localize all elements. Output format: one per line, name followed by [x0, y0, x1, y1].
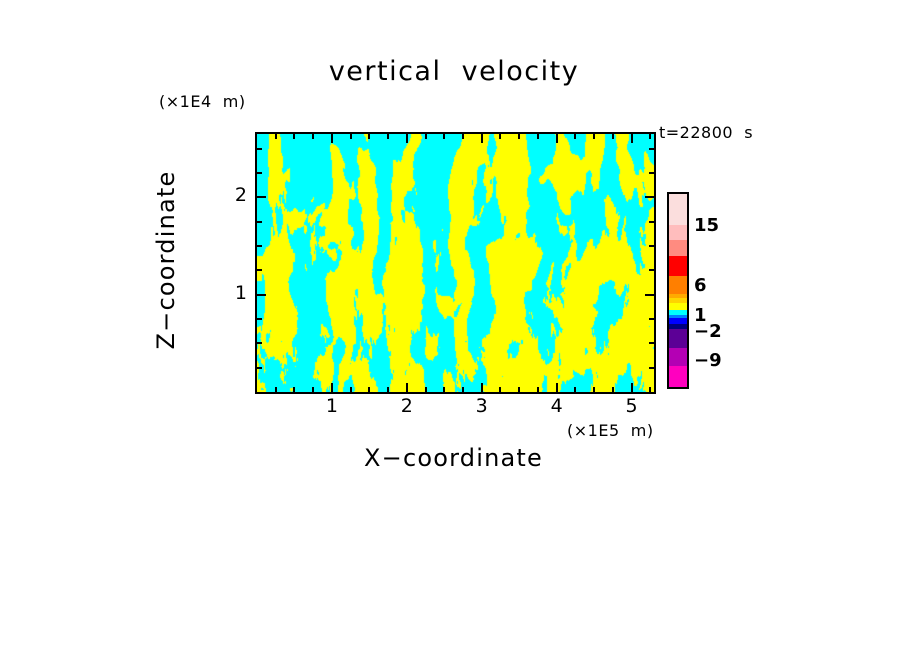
x-axis-minor-tick	[499, 134, 501, 139]
y-axis-tick	[645, 196, 654, 198]
y-axis-minor-tick	[649, 269, 654, 271]
x-axis-minor-tick	[518, 387, 520, 392]
x-axis-minor-tick	[537, 387, 539, 392]
x-axis-tick	[631, 134, 633, 143]
x-axis-tick-label: 4	[542, 395, 572, 417]
velocity-field-image	[257, 134, 654, 392]
x-axis-tick-label: 1	[317, 395, 347, 417]
y-axis-tick-label: 1	[221, 282, 247, 304]
y-axis-minor-tick	[257, 148, 262, 150]
y-axis-minor-tick	[649, 318, 654, 320]
x-axis-minor-tick	[312, 387, 314, 392]
y-axis-tick	[257, 196, 266, 198]
y-axis-minor-tick	[257, 172, 262, 174]
y-axis-minor-tick	[649, 342, 654, 344]
colorbar-band	[669, 348, 687, 366]
x-axis-tick	[631, 383, 633, 392]
heatmap-plot-area	[255, 132, 656, 394]
x-axis-unit-label: (×1E5 m)	[567, 421, 654, 440]
x-axis-minor-tick	[350, 387, 352, 392]
x-axis-tick	[406, 134, 408, 143]
x-axis-minor-tick	[425, 387, 427, 392]
x-axis-minor-tick	[499, 387, 501, 392]
colorbar-band	[669, 256, 687, 277]
colorbar-tick-label: 6	[694, 275, 707, 296]
x-axis-minor-tick	[612, 134, 614, 139]
x-axis-minor-tick	[612, 387, 614, 392]
x-axis-minor-tick	[425, 134, 427, 139]
x-axis-tick	[331, 134, 333, 143]
x-axis-minor-tick	[368, 387, 370, 392]
x-axis-minor-tick	[574, 387, 576, 392]
y-axis-minor-tick	[257, 367, 262, 369]
y-axis-minor-tick	[649, 221, 654, 223]
colorbar	[667, 192, 689, 389]
x-axis-minor-tick	[275, 134, 277, 139]
x-axis-minor-tick	[443, 134, 445, 139]
x-axis-minor-tick	[443, 387, 445, 392]
y-axis-minor-tick	[257, 221, 262, 223]
x-axis-minor-tick	[312, 134, 314, 139]
x-axis-minor-tick	[293, 134, 295, 139]
y-axis-minor-tick	[257, 269, 262, 271]
x-axis-minor-tick	[293, 387, 295, 392]
y-axis-tick	[645, 294, 654, 296]
x-axis-minor-tick	[350, 134, 352, 139]
x-axis-minor-tick	[574, 134, 576, 139]
x-axis-tick	[481, 134, 483, 143]
x-axis-tick	[406, 383, 408, 392]
x-axis-tick-label: 2	[392, 395, 422, 417]
x-axis-tick	[556, 383, 558, 392]
x-axis-minor-tick	[368, 134, 370, 139]
y-axis-minor-tick	[257, 318, 262, 320]
x-axis-minor-tick	[518, 134, 520, 139]
y-axis-tick-label: 2	[221, 184, 247, 206]
x-axis-tick	[331, 383, 333, 392]
colorbar-band	[669, 276, 687, 294]
y-axis-title: Z−coordinate	[152, 170, 180, 350]
x-axis-tick	[556, 134, 558, 143]
x-axis-minor-tick	[387, 387, 389, 392]
x-axis-minor-tick	[275, 387, 277, 392]
y-axis-minor-tick	[649, 245, 654, 247]
x-axis-tick	[481, 383, 483, 392]
x-axis-minor-tick	[649, 134, 651, 139]
colorbar-tick-label: −2	[694, 321, 722, 342]
colorbar-tick-label: 15	[694, 215, 719, 236]
x-axis-minor-tick	[537, 134, 539, 139]
colorbar-band	[669, 366, 687, 387]
y-axis-tick	[257, 294, 266, 296]
x-axis-minor-tick	[462, 387, 464, 392]
y-axis-minor-tick	[257, 342, 262, 344]
colorbar-band	[669, 329, 687, 348]
x-axis-minor-tick	[649, 387, 651, 392]
time-annotation: t=22800 s	[659, 123, 753, 142]
x-axis-minor-tick	[387, 134, 389, 139]
y-axis-minor-tick	[649, 367, 654, 369]
x-axis-minor-tick	[462, 134, 464, 139]
x-axis-tick-label: 5	[617, 395, 647, 417]
x-axis-title: X−coordinate	[255, 444, 652, 472]
y-axis-minor-tick	[257, 245, 262, 247]
y-axis-unit-label: (×1E4 m)	[159, 92, 246, 111]
x-axis-tick-label: 3	[467, 395, 497, 417]
figure-canvas: vertical velocity (×1E4 m) t=22800 s 123…	[0, 0, 904, 654]
x-axis-minor-tick	[593, 134, 595, 139]
y-axis-minor-tick	[649, 148, 654, 150]
colorbar-band	[669, 225, 687, 239]
y-axis-minor-tick	[649, 172, 654, 174]
x-axis-minor-tick	[593, 387, 595, 392]
colorbar-tick-label: −9	[694, 350, 722, 371]
colorbar-band	[669, 194, 687, 225]
colorbar-band	[669, 240, 687, 256]
page-title: vertical velocity	[255, 56, 653, 87]
colorbar-band	[669, 303, 687, 310]
